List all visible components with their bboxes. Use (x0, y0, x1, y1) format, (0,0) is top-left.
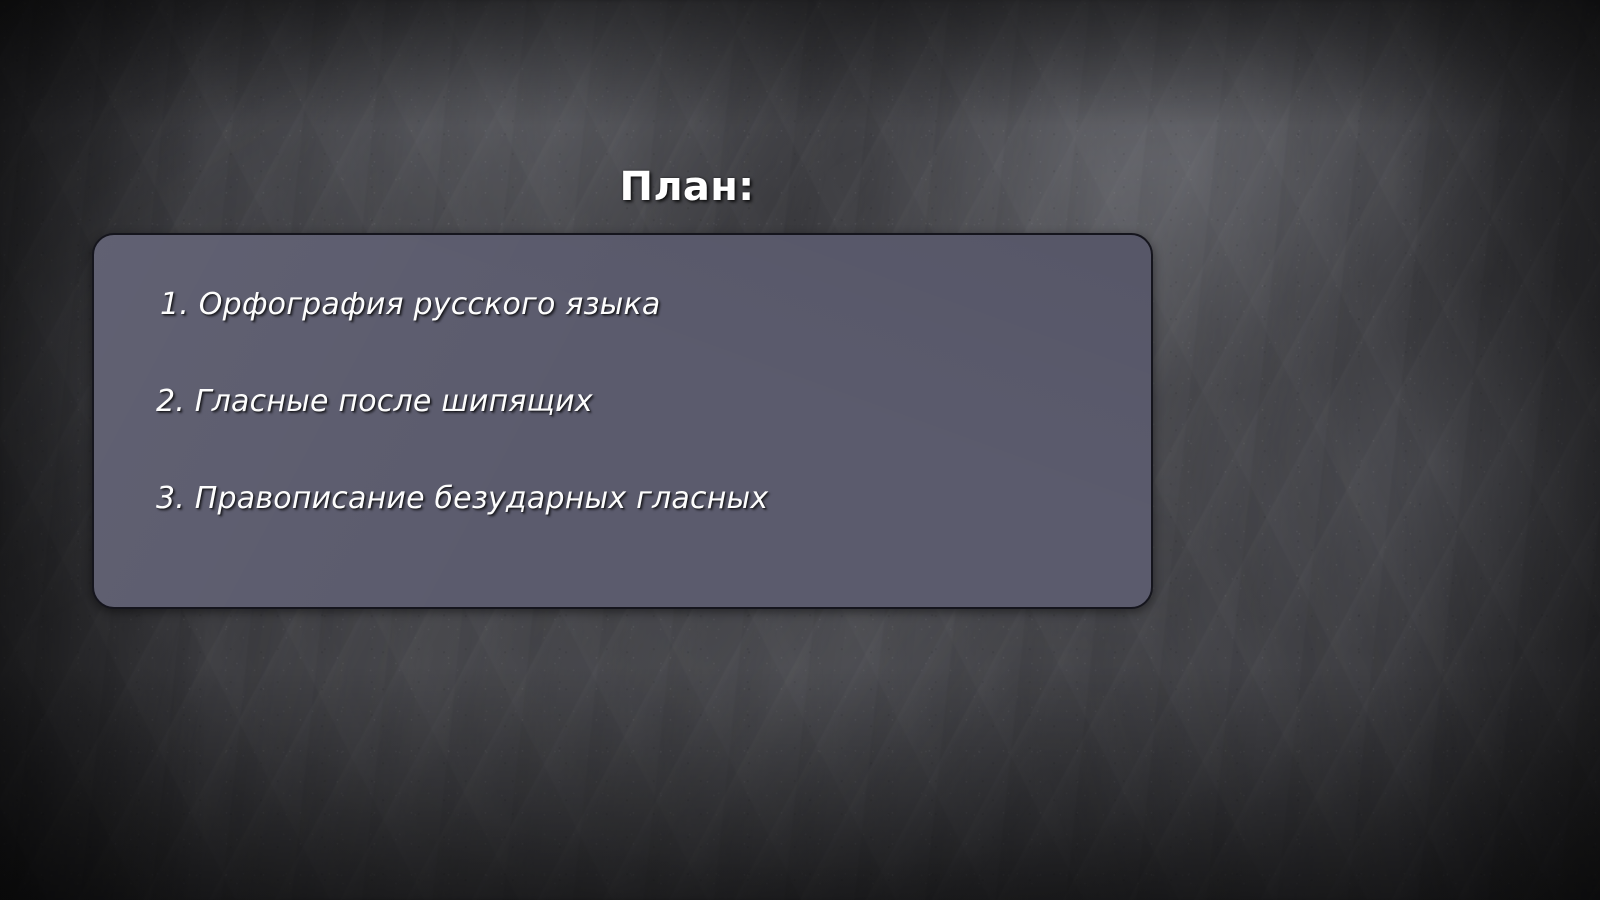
plan-list-item: 3. Правописание безударных гласных (156, 481, 768, 516)
plan-list: 1. Орфография русского языка 2. Гласные … (94, 235, 1151, 607)
presentation-slide: План: 1. Орфография русского языка 2. Гл… (0, 0, 1600, 900)
plan-list-item: 1. Орфография русского языка (160, 287, 660, 322)
plan-list-item: 2. Гласные после шипящих (156, 384, 593, 419)
slide-title: План: (0, 164, 1374, 210)
plan-panel: 1. Орфография русского языка 2. Гласные … (92, 233, 1153, 609)
